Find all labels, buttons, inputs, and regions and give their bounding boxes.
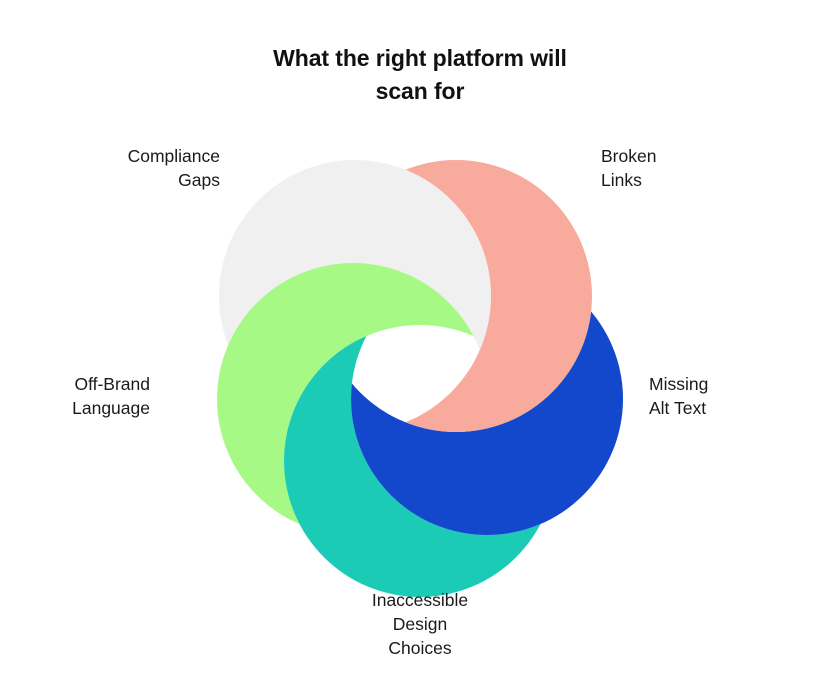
chart-canvas: What the right platform will scan for (0, 0, 840, 696)
label-compliance-gaps: Compliance Gaps (24, 144, 220, 192)
label-missing-alt-text: Missing Alt Text (649, 372, 839, 420)
petal-broken-links[interactable] (320, 160, 592, 432)
label-inaccessible-design-choices: Inaccessible Design Choices (300, 588, 540, 660)
label-off-brand-language: Off-Brand Language (0, 372, 150, 420)
label-broken-links: Broken Links (601, 144, 811, 192)
